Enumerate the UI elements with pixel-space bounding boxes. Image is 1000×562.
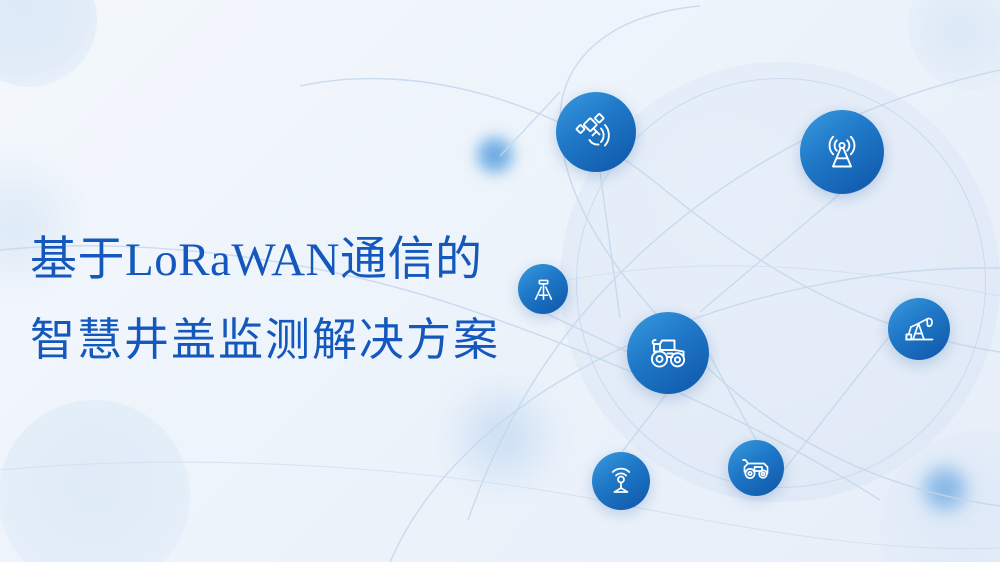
title-line-2: 智慧井盖监测解决方案 [30, 308, 590, 372]
harvester-icon [740, 452, 772, 484]
slide-canvas: 基于LoRaWAN通信的 智慧井盖监测解决方案 [0, 0, 1000, 562]
title-block: 基于LoRaWAN通信的 智慧井盖监测解决方案 [30, 228, 590, 372]
satellite-icon [575, 111, 617, 153]
title-line-1: 基于LoRaWAN通信的 [30, 228, 590, 292]
tractor-icon [645, 330, 691, 376]
wifi-beacon-icon [605, 465, 637, 497]
radio-tower-icon [820, 130, 864, 174]
node-radio-tower[interactable] [800, 110, 884, 194]
node-oil-pumpjack[interactable] [888, 298, 950, 360]
node-tractor[interactable] [627, 312, 709, 394]
oil-pumpjack-icon [902, 312, 936, 346]
node-wifi-beacon[interactable] [592, 452, 650, 510]
node-satellite[interactable] [556, 92, 636, 172]
node-harvester[interactable] [728, 440, 784, 496]
